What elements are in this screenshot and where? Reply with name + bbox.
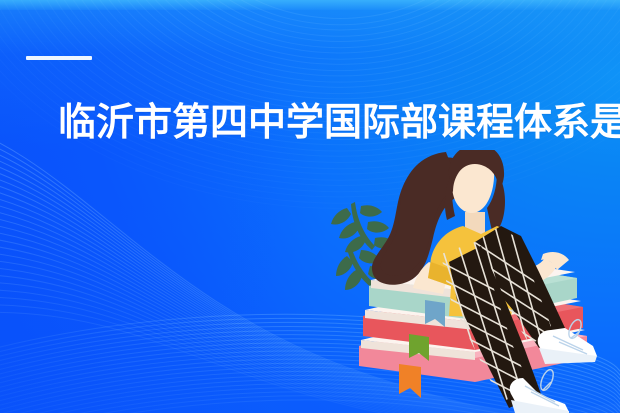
background-top-band — [0, 0, 620, 10]
promo-banner: 临沂市第四中学国际部课程体系是什 — [0, 0, 620, 413]
accent-rule — [26, 56, 92, 60]
page-title: 临沂市第四中学国际部课程体系是什 — [58, 100, 620, 144]
